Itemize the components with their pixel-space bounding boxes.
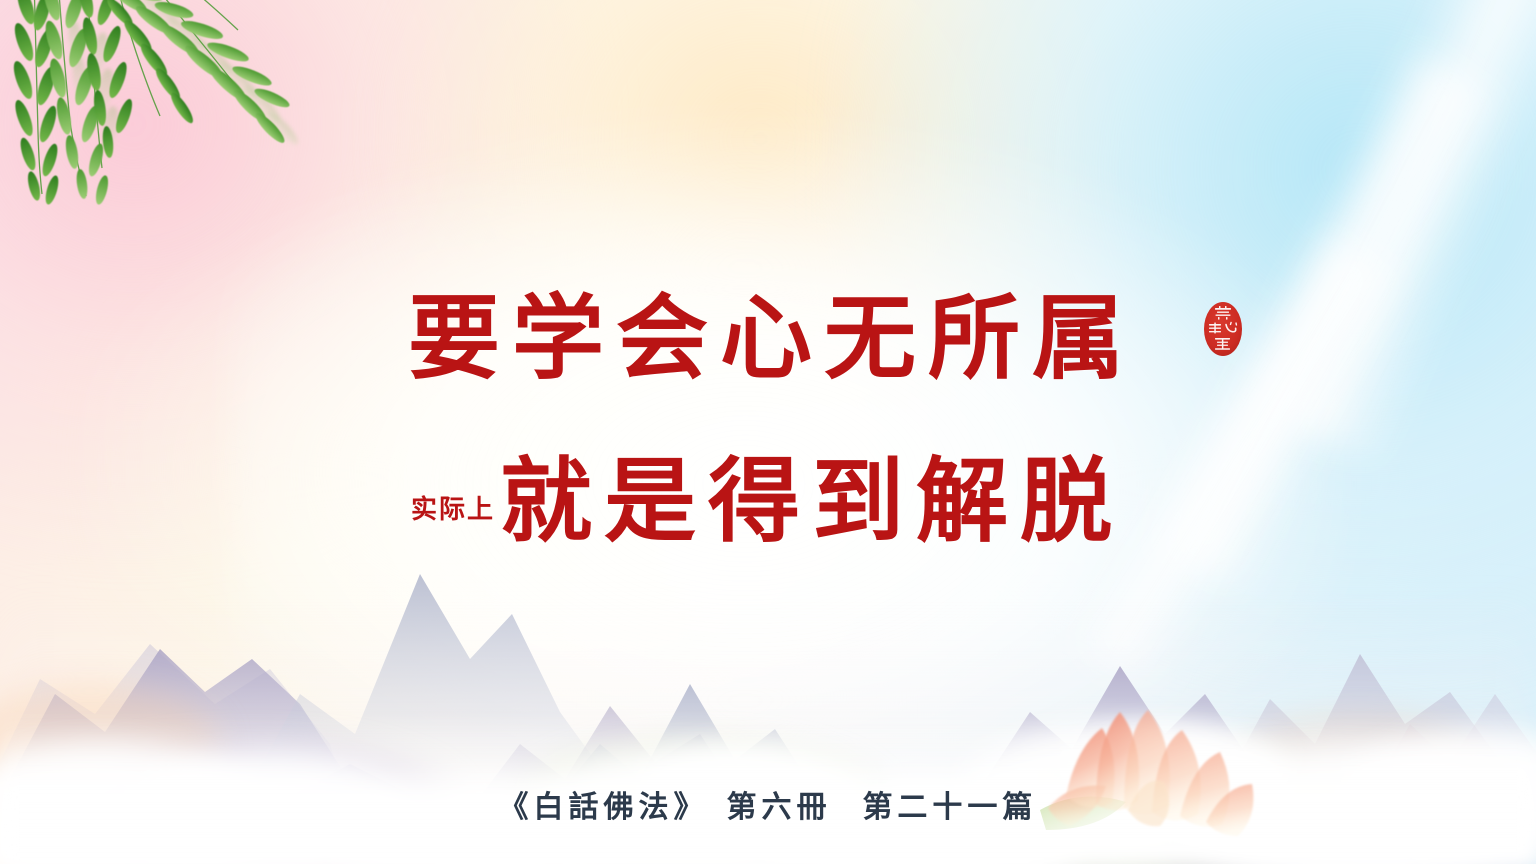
lotus-flower [1040,690,1310,864]
slide-canvas: 要学会心无所属 就是得到解脱 实际上 [0,0,1536,864]
source-citation: 《白話佛法》第六冊 第二十一篇 [0,782,1536,826]
book-title: 《白話佛法》 [499,790,709,825]
quote-block: 要学会心无所属 就是得到解脱 [0,272,1536,592]
willow-leaves [0,0,330,232]
quote-line-1: 要学会心无所属 [408,292,1136,384]
chapter-label: 第二十一篇 [862,790,1037,825]
quote-prefix: 实际上 [411,497,495,523]
quote-line-2: 就是得到解脱 [500,455,1124,547]
volume-label: 第六冊 [727,790,832,825]
seal-stamp-icon [1198,297,1248,361]
